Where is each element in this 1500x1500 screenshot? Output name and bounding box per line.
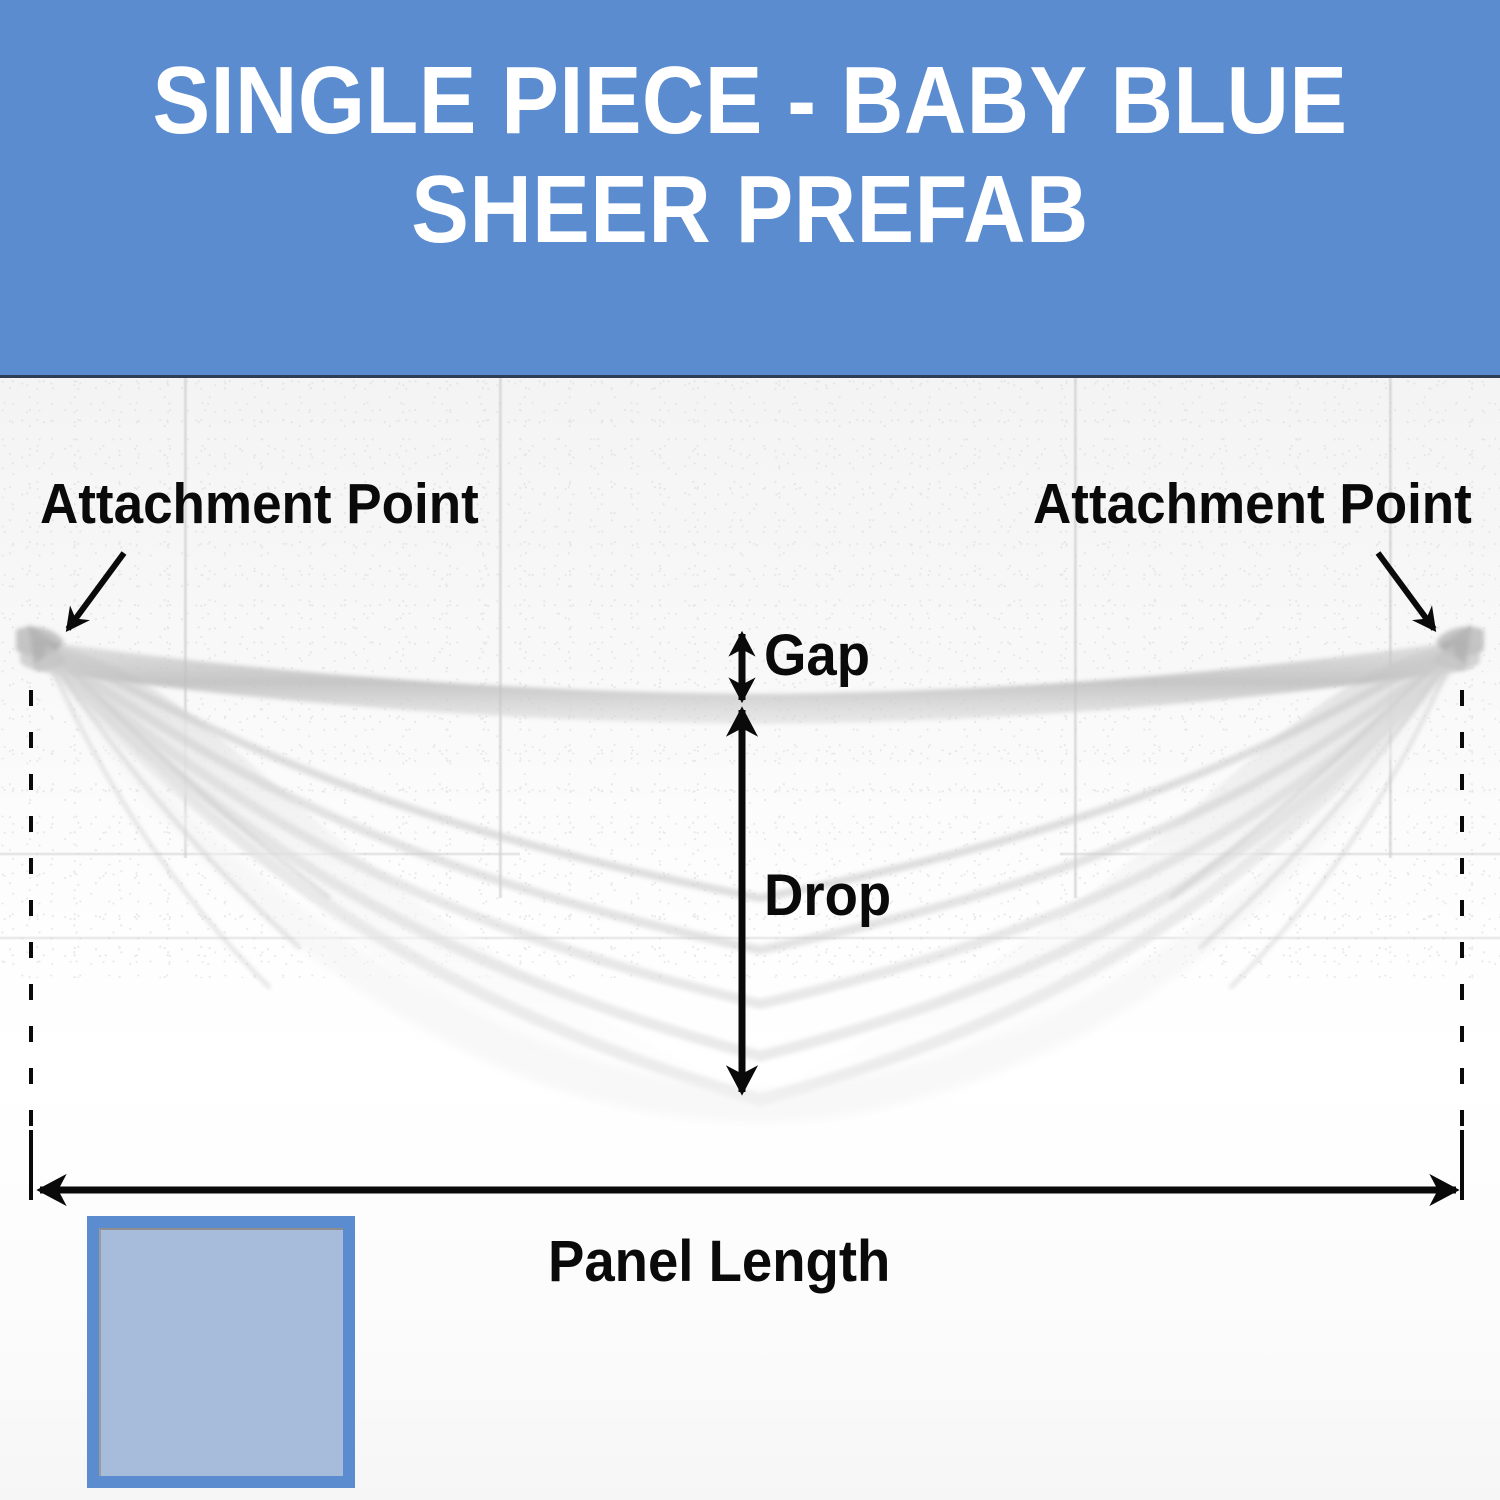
- gap-label: Gap: [764, 622, 870, 689]
- panel-length-label: Panel Length: [548, 1228, 890, 1295]
- attachment-point-left-label: Attachment Point: [40, 471, 479, 537]
- drop-label: Drop: [764, 862, 891, 929]
- product-diagram-canvas: SINGLE PIECE - BABY BLUE SHEER PREFAB: [0, 0, 1500, 1500]
- attachment-point-right-label: Attachment Point: [1033, 471, 1472, 537]
- color-swatch: [87, 1216, 355, 1488]
- attachment-pointer-left-icon: [68, 553, 124, 629]
- color-swatch-fill: [99, 1228, 343, 1476]
- attachment-pointer-right-icon: [1378, 553, 1434, 629]
